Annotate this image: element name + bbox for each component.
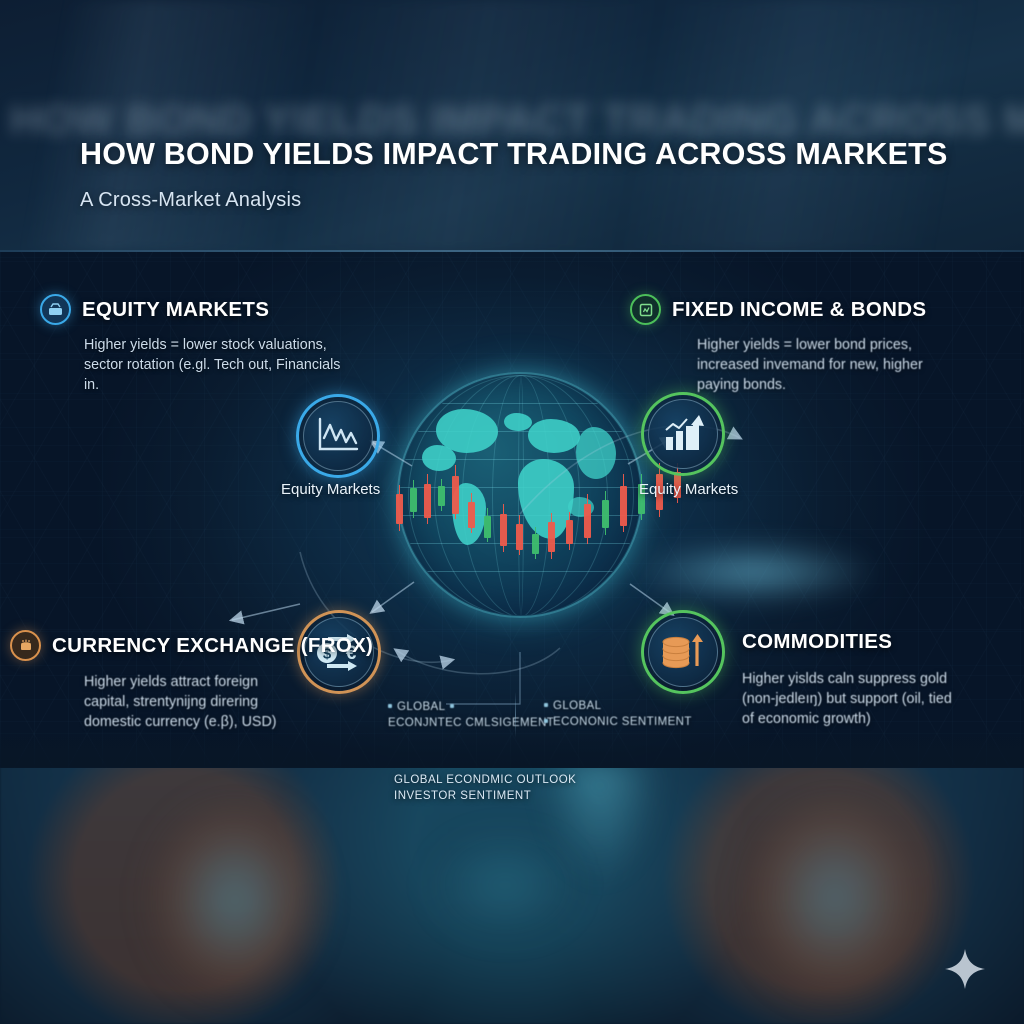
bottom-caption-line2: INVESTOR SENTIMENT [394,788,576,804]
bar-chart-arrow-icon [660,413,706,455]
node-equity-right-label: Equity Markets [639,481,738,498]
bottom-caption: GLOBAL ECONDMIC OUTLOOK INVESTOR SENTIME… [394,772,576,804]
section-header-currency-exchange: CURRENCY EXCHANGE (FROX) [10,630,373,661]
bond-certificate-badge-icon [630,294,661,325]
section-body-fixed-income-bonds: Higher yields = lower bond prices, incre… [697,335,955,395]
backdrop-blur-circle-left [150,800,320,1000]
node-equity-left-label: Equity Markets [281,481,380,498]
header-band: HOW BOND YIELDS IMPACT TRADING ACROSS MA… [0,0,1024,252]
section-title: EQUITY MARKETS [82,298,269,322]
backdrop-blur-circle-right [745,795,925,1000]
node-equity-right[interactable] [641,392,725,476]
section-header-equity-markets: EQUITY MARKETS [40,294,269,325]
candlestick-chart-overlay [390,442,690,572]
coin-stack-badge-icon [10,630,41,661]
stock-chart-badge-icon [40,294,71,325]
section-body-commodities: Higher yislds caln suppress gold (non-je… [742,669,962,729]
page-subtitle: A Cross-Market Analysis [80,189,301,212]
header-light-sheen [0,0,1024,252]
section-title: CURRENCY EXCHANGE (FROX) [52,634,373,658]
coin-stack-arrow-icon [659,630,707,674]
section-body-equity-markets: Higher yields = lower stock valuations, … [84,335,344,395]
section-header-fixed-income-bonds: FIXED INCOME & BONDS [630,294,926,325]
infographic-canvas: HOW BOND YIELDS IMPACT TRADING ACROSS MA… [0,0,1024,1024]
page-title: HOW BOND YIELDS IMPACT TRADING ACROSS MA… [80,137,948,172]
node-commodities[interactable] [641,610,725,694]
sparkle-star-icon [944,948,986,990]
section-title: COMMODITIES [742,630,892,654]
section-header-commodities: COMMODITIES [742,630,892,654]
bottom-caption-line1: GLOBAL ECONDMIC OUTLOOK [394,772,576,788]
node-equity-left[interactable] [296,394,380,478]
section-body-currency-exchange: Higher yields attract foreign capital, s… [84,672,304,732]
line-chart-icon [315,416,361,456]
section-title: FIXED INCOME & BONDS [672,298,926,322]
